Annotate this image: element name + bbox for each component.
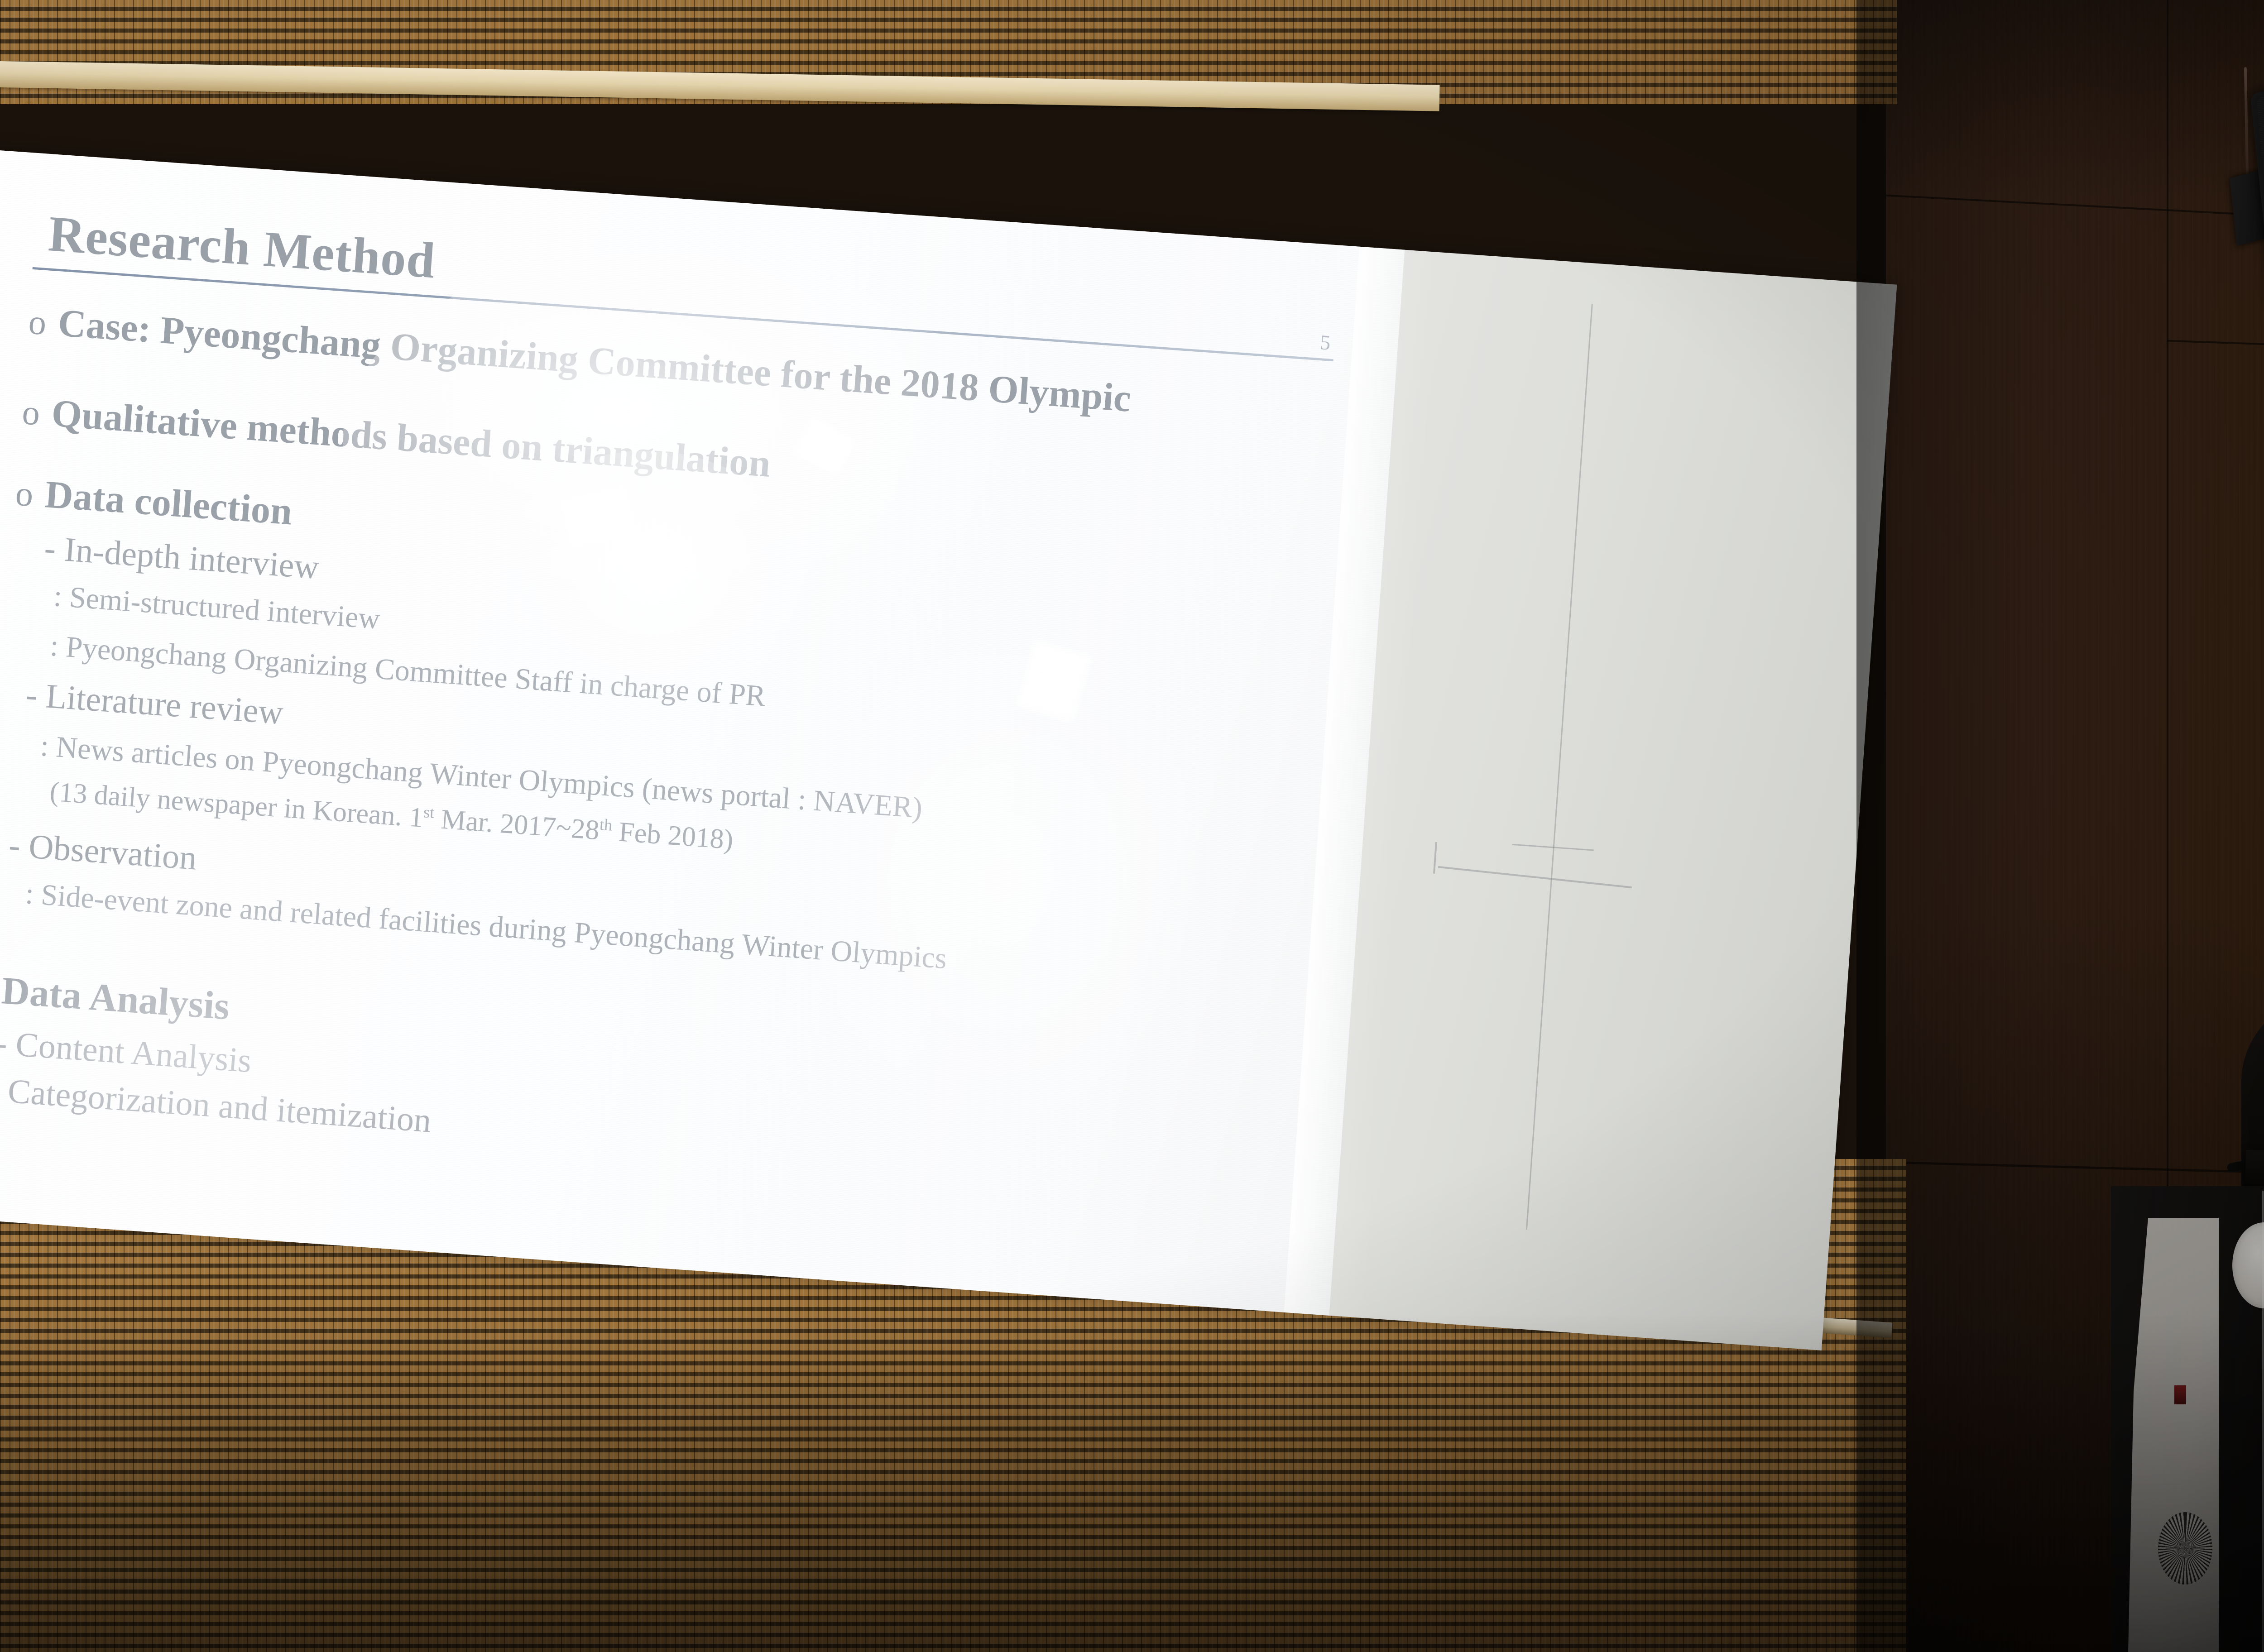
bullet-glyph: o <box>21 392 41 433</box>
board-smudge <box>1438 866 1632 888</box>
slide-sub-semi-structured: : Semi-structured interview <box>53 579 381 637</box>
projection-whiteboard: Research Method 5 oCase: Pyeongchang Org… <box>0 149 1897 1350</box>
slide-number: 5 <box>1319 330 1331 354</box>
bullet-text: Literature review <box>44 677 284 732</box>
board-smudge <box>1433 842 1437 874</box>
presentation-slide: Research Method 5 oCase: Pyeongchang Org… <box>0 149 1405 1316</box>
lectern-edge-highlight <box>2262 1191 2264 1652</box>
bullet-glyph: o <box>27 302 48 343</box>
bullet-text: In-depth interview <box>63 530 320 586</box>
colon-glyph: : <box>39 729 50 763</box>
slide-sub-categorization: - Categorization and itemization <box>0 1070 432 1141</box>
bullet-text: Semi-structured interview <box>68 581 381 636</box>
slide-bullet-qualitative: oQualitative methods based on triangulat… <box>21 388 772 486</box>
bullet-text: Observation <box>28 828 198 877</box>
bullet-text: Content Analysis <box>14 1025 253 1080</box>
colon-glyph: : <box>49 629 59 663</box>
bullet-glyph: o <box>14 474 34 514</box>
slide-title: Research Method <box>47 205 437 290</box>
dash-glyph: - <box>8 826 22 865</box>
bullet-text: Data Analysis <box>0 968 231 1028</box>
slide-bullet-data-analysis: oData Analysis <box>0 966 231 1029</box>
wood-seam <box>2167 340 2264 350</box>
slide-sub-side-event-zone: : Side-event zone and related facilities… <box>24 876 948 976</box>
bullet-text: Data collection <box>43 472 293 533</box>
lectern-indicator-light <box>2174 1385 2186 1404</box>
slide-sub-observation: - Observation <box>8 825 198 878</box>
conference-room-photo: Research Method 5 oCase: Pyeongchang Org… <box>0 0 2264 1652</box>
slide-sub-literature-review: - Literature review <box>24 675 284 733</box>
lectern-speaker-vent <box>2158 1512 2212 1585</box>
bullet-text: Qualitative methods based on triangulati… <box>50 391 772 485</box>
dash-glyph: - <box>43 529 57 568</box>
superscript-th: th <box>599 815 613 834</box>
bullet-text: Categorization and itemization <box>7 1072 433 1140</box>
colon-glyph: : <box>24 877 35 910</box>
dash-glyph: - <box>24 675 38 714</box>
slide-sub-content-analysis: - Content Analysis <box>0 1023 253 1081</box>
superscript-st: st <box>423 803 435 822</box>
wood-seam <box>1886 195 2264 224</box>
board-panel-seam <box>1526 304 1593 1230</box>
dash-glyph: - <box>0 1024 9 1063</box>
colon-glyph: : <box>53 579 63 613</box>
bullet-text: Side-event zone and related facilities d… <box>40 878 948 975</box>
slide-sub-in-depth-interview: - In-depth interview <box>43 528 320 587</box>
dash-glyph: - <box>0 1071 1 1110</box>
slide-bullet-data-collection: oData collection <box>14 469 293 534</box>
